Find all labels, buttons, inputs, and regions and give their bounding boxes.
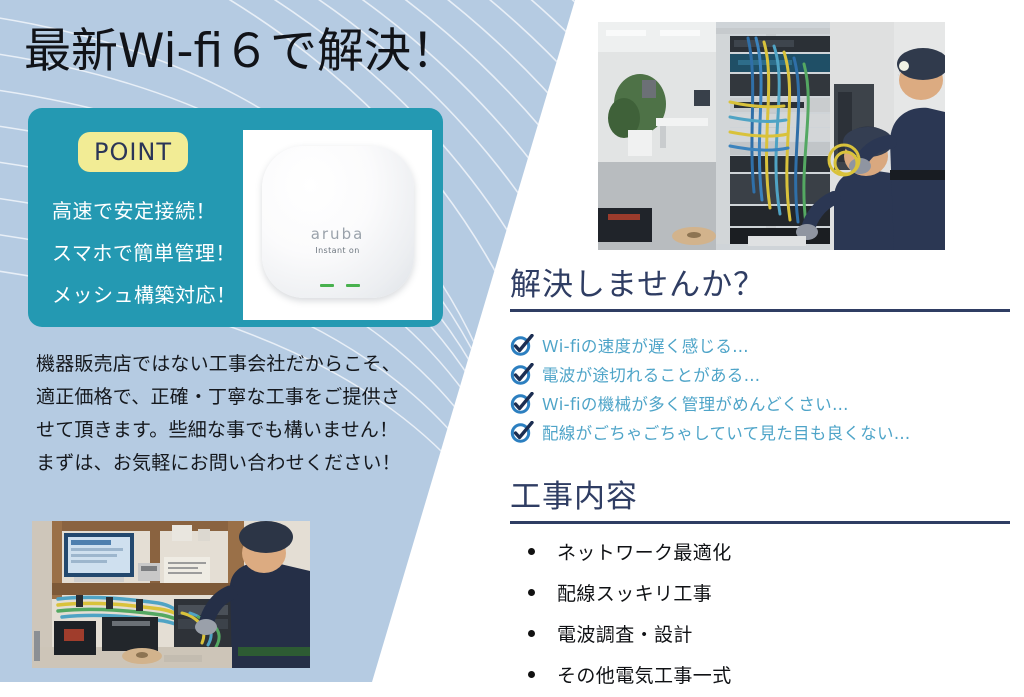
checklist-item: 配線がごちゃごちゃしていて見た目も良くない… (510, 417, 1010, 446)
status-led-right (346, 284, 360, 287)
page-title: 最新Wi-fi６で解決！ (24, 28, 458, 75)
status-led-left (320, 284, 334, 287)
checklist-item: Ｗi-fiの速度が遅く感じる… (510, 330, 1010, 359)
lead-paragraph: 機器販売店ではない工事会社だからこそ、適正価格で、正確・丁寧な工事をご提供させて… (36, 348, 411, 480)
check-circle-icon (510, 421, 534, 443)
access-point-product-photo: aruba Instant on (243, 130, 432, 320)
aruba-logo: aruba (262, 225, 414, 243)
point-benefit-list: 高速で安定接続！ スマホで簡単管理！ メッシュ構築対応！ (52, 190, 252, 316)
list-item: 電波調査・設計 (512, 613, 992, 654)
list-item: ネットワーク最適化 (512, 531, 992, 572)
check-circle-icon (510, 334, 534, 356)
section-heading-works: 工事内容 (510, 480, 638, 514)
checklist-item: Ｗi-fiの機械が多く管理がめんどくさい… (510, 388, 1010, 417)
section-rule-solve (510, 309, 1010, 312)
section-rule-works (510, 521, 1010, 524)
point-benefit-item: スマホで簡単管理！ (52, 232, 252, 274)
bullet-dot-icon (528, 589, 535, 596)
problem-checklist: Ｗi-fiの速度が遅く感じる… 電波が途切れることがある… Ｗi-fiの機械が多… (510, 330, 1010, 446)
poster-canvas: 最新Wi-fi６で解決！ POINT 高速で安定接続！ スマホで簡単管理！ メッ… (0, 0, 1024, 697)
list-item-label: ネットワーク最適化 (557, 538, 732, 565)
list-item-label: その他電気工事一式 (557, 661, 732, 688)
instant-on-logo: Instant on (262, 246, 414, 255)
list-item-label: 電波調査・設計 (557, 620, 693, 647)
access-point-device: aruba Instant on (262, 146, 414, 298)
list-item-label: 配線スッキリ工事 (557, 579, 712, 606)
check-circle-icon (510, 392, 534, 414)
server-rack-cabling-photo (598, 22, 945, 250)
point-benefit-item: メッシュ構築対応！ (52, 274, 252, 316)
checklist-item-label: Ｗi-fiの機械が多く管理がめんどくさい… (542, 391, 849, 415)
bullet-dot-icon (528, 548, 535, 555)
checklist-item-label: 配線がごちゃごちゃしていて見た目も良くない… (542, 420, 911, 444)
bullet-dot-icon (528, 671, 535, 678)
checklist-item-label: 電波が途切れることがある… (542, 362, 760, 386)
point-benefit-item: 高速で安定接続！ (52, 190, 252, 232)
section-heading-solve: 解決しませんか？ (510, 268, 765, 302)
desk-cabling-photo (32, 521, 310, 668)
work-contents-list: ネットワーク最適化 配線スッキリ工事 電波調査・設計 その他電気工事一式 (512, 531, 992, 695)
checklist-item: 電波が途切れることがある… (510, 359, 1010, 388)
point-badge: POINT (78, 132, 188, 172)
list-item: 配線スッキリ工事 (512, 572, 992, 613)
list-item: その他電気工事一式 (512, 654, 992, 695)
bullet-dot-icon (528, 630, 535, 637)
check-circle-icon (510, 363, 534, 385)
checklist-item-label: Ｗi-fiの速度が遅く感じる… (542, 333, 749, 357)
